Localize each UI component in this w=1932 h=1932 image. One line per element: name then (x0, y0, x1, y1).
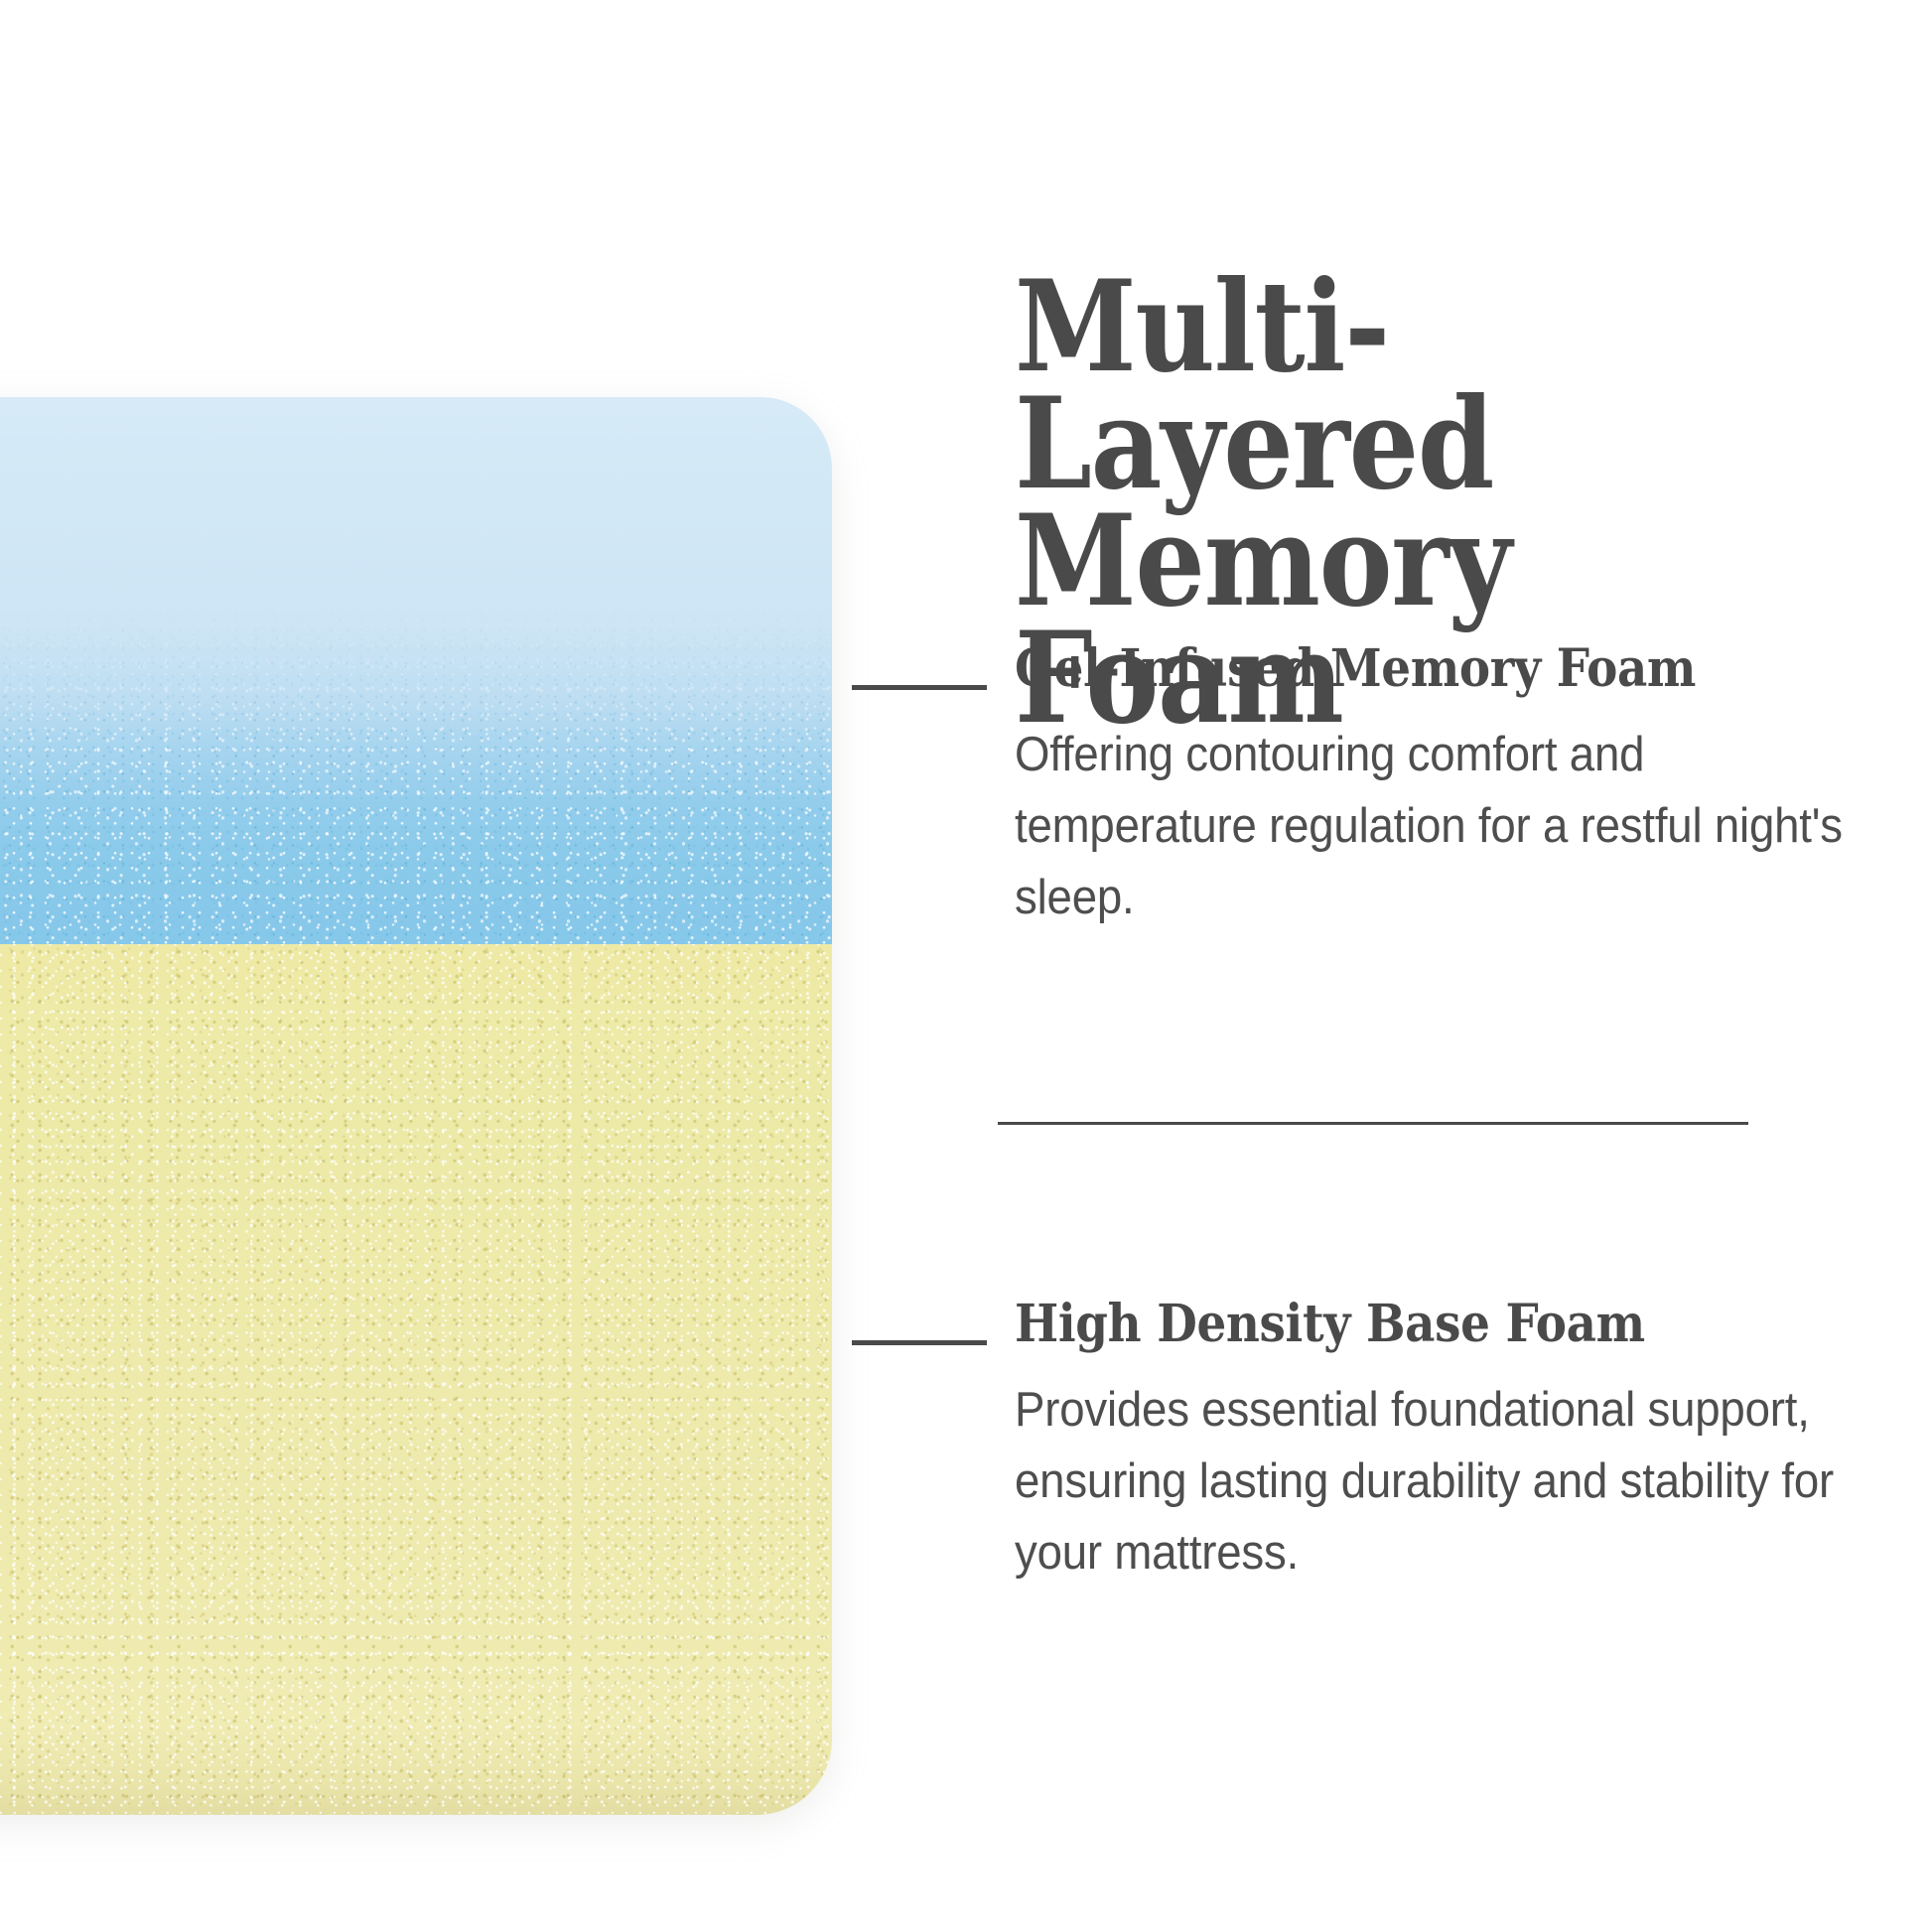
foam-block-image (0, 397, 832, 1815)
feature-high-density-base-foam: High Density Base Foam Provides essentia… (1015, 1297, 1888, 1588)
leader-dash-icon (852, 1340, 987, 1345)
feature-gel-infused-memory-foam: Gel-Infused Memory Foam Offering contour… (1015, 641, 1888, 933)
feature-heading: High Density Base Foam (1015, 1297, 1801, 1352)
feature-description: Provides essential foundational support,… (1015, 1374, 1887, 1588)
section-divider (998, 1122, 1748, 1125)
infographic-canvas: Multi-Layered Memory Foam Gel-Infused Me… (0, 0, 1932, 1932)
feature-heading: Gel-Infused Memory Foam (1015, 641, 1801, 697)
leader-dash-icon (852, 685, 987, 690)
feature-description: Offering contouring comfort and temperat… (1015, 719, 1887, 933)
gel-infused-memory-foam-layer (0, 397, 832, 944)
foam-bottom-shading (0, 1725, 832, 1815)
high-density-base-foam-layer (0, 944, 832, 1815)
content-column: Multi-Layered Memory Foam Gel-Infused Me… (1015, 0, 1888, 1932)
